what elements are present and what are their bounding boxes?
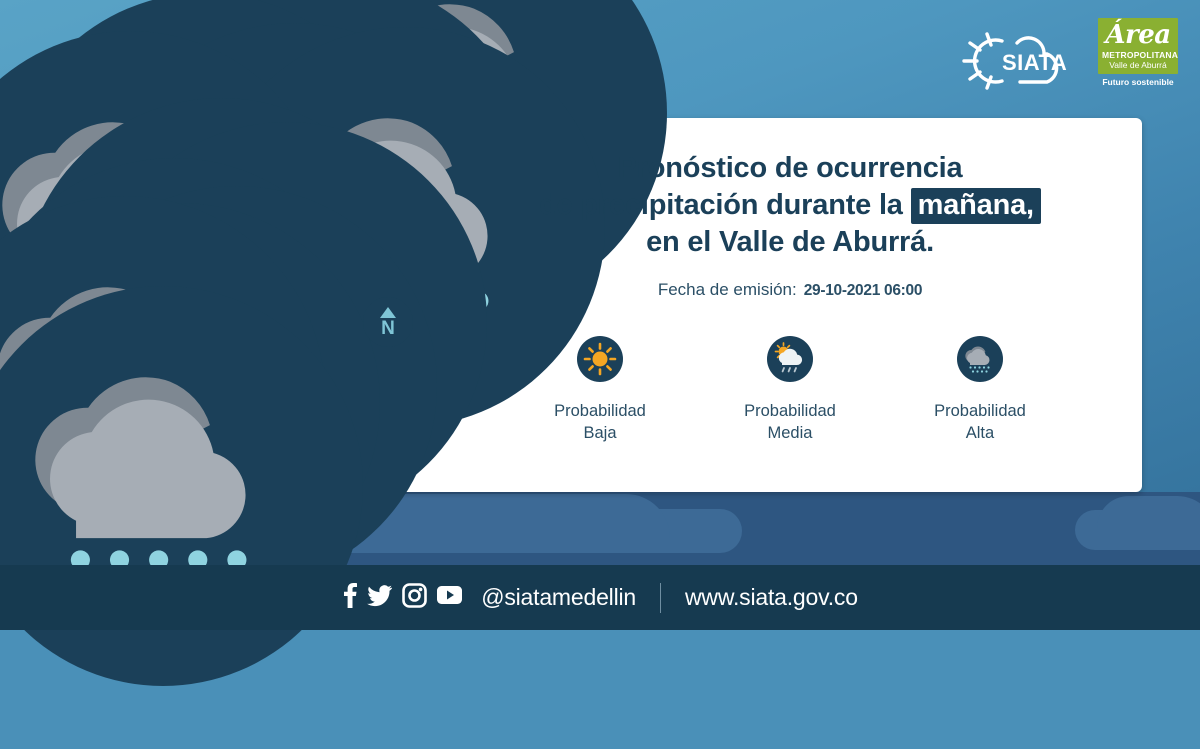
map-marker-cloud-rain-icon-12 [0, 224, 363, 749]
siata-logo: SIATA [958, 30, 1084, 97]
title-line-3: en el Valle de Aburrá. [470, 224, 1110, 261]
probability-legend: Probabilidad Baja [470, 336, 1110, 444]
logo-group: SIATA Área METROPOLITANA Valle de Aburrá… [958, 18, 1178, 97]
legend-label-baja-line1: Probabilidad [554, 401, 646, 422]
legend-label-media-line2: Media [744, 423, 836, 444]
footer-divider [660, 583, 661, 613]
website-url[interactable]: www.siata.gov.co [685, 584, 858, 611]
cloud-rain-icon [957, 336, 1003, 387]
facebook-icon[interactable] [342, 582, 358, 613]
area-logo-tagline: Futuro sostenible [1098, 77, 1178, 87]
social-handle[interactable]: @siatamedellin [481, 584, 636, 611]
emission-date-value: 29-10-2021 06:00 [804, 282, 922, 300]
legend-label-alta: Probabilidad Alta [934, 401, 1026, 444]
area-logo-box: Área METROPOLITANA Valle de Aburrá [1098, 18, 1178, 74]
compass-label: N [381, 319, 395, 338]
sun-icon [577, 336, 623, 387]
forecast-content: Pronóstico de ocurrencia de precipitació… [470, 150, 1110, 444]
siata-logo-text: SIATA [1002, 50, 1067, 75]
title-line-2-text: de precipitación durante la [539, 189, 903, 221]
title-highlight-manana: mañana, [911, 188, 1041, 224]
valle-de-aburra-map: N [55, 45, 455, 570]
legend-label-baja: Probabilidad Baja [554, 401, 646, 444]
legend-label-alta-line1: Probabilidad [934, 401, 1026, 422]
decorative-cloud-right [1075, 510, 1200, 550]
area-logo-script: Área [1102, 22, 1174, 48]
area-logo-line2: Valle de Aburrá [1102, 61, 1174, 71]
social-icon-group [342, 582, 463, 613]
emission-date-label: Fecha de emisión: [658, 280, 797, 300]
siata-logo-icon: SIATA [958, 30, 1084, 92]
title-line-2: de precipitación durante la mañana, [470, 187, 1110, 224]
legend-label-alta-line2: Alta [934, 423, 1026, 444]
legend-item-alta: Probabilidad Alta [885, 336, 1075, 444]
twitter-icon[interactable] [367, 582, 393, 613]
legend-label-media-line1: Probabilidad [744, 401, 836, 422]
emission-date: Fecha de emisión: 29-10-2021 06:00 [470, 280, 1110, 300]
legend-item-baja: Probabilidad Baja [505, 336, 695, 444]
footer-bar: @siatamedellin www.siata.gov.co [0, 565, 1200, 630]
legend-label-baja-line2: Baja [554, 423, 646, 444]
title-line-1: Pronóstico de ocurrencia [470, 150, 1110, 187]
instagram-icon[interactable] [402, 583, 427, 613]
sun-cloud-rain-icon [767, 336, 813, 387]
legend-label-media: Probabilidad Media [744, 401, 836, 444]
page-title: Pronóstico de ocurrencia de precipitació… [470, 150, 1110, 261]
compass-rose: N [363, 297, 413, 347]
youtube-icon[interactable] [436, 585, 463, 610]
legend-item-media: Probabilidad Media [695, 336, 885, 444]
compass-north-arrow-icon [380, 307, 396, 318]
area-metropolitana-logo: Área METROPOLITANA Valle de Aburrá Futur… [1098, 18, 1178, 87]
